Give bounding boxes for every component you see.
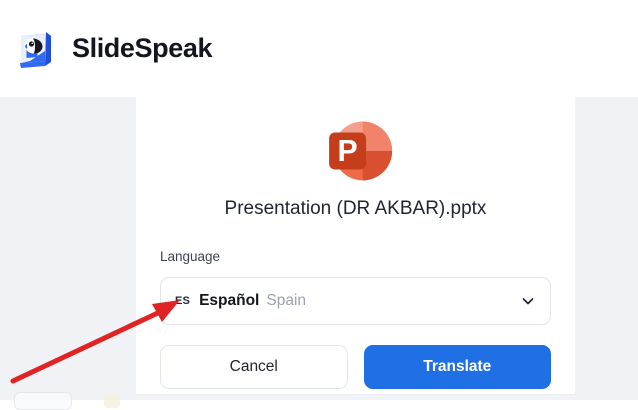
modal-actions: Cancel Translate	[160, 345, 551, 389]
brand-name: SlideSpeak	[72, 33, 212, 64]
translate-modal: P Presentation (DR AKBAR).pptx Language …	[136, 80, 575, 394]
cancel-button[interactable]: Cancel	[160, 345, 348, 389]
translate-button[interactable]: Translate	[364, 345, 552, 389]
language-native-name: Español	[199, 292, 259, 310]
background-badge-placeholder	[104, 394, 120, 408]
chevron-down-icon[interactable]	[520, 293, 536, 309]
language-country-code: ES	[175, 295, 190, 307]
file-icon-container: P	[136, 109, 575, 193]
background-pill-placeholder	[14, 392, 72, 410]
svg-text:P: P	[337, 135, 357, 168]
file-name-label: Presentation (DR AKBAR).pptx	[136, 198, 575, 220]
parrot-book-logo-icon	[14, 27, 58, 71]
modal-content: P Presentation (DR AKBAR).pptx Language …	[136, 80, 575, 394]
card-bottom-divider	[136, 394, 575, 395]
language-select[interactable]: ES Español Spain	[160, 277, 551, 325]
language-country-name: Spain	[266, 292, 306, 310]
language-field-label: Language	[160, 249, 220, 264]
powerpoint-file-icon: P	[314, 109, 398, 193]
app-header: SlideSpeak	[0, 0, 638, 97]
